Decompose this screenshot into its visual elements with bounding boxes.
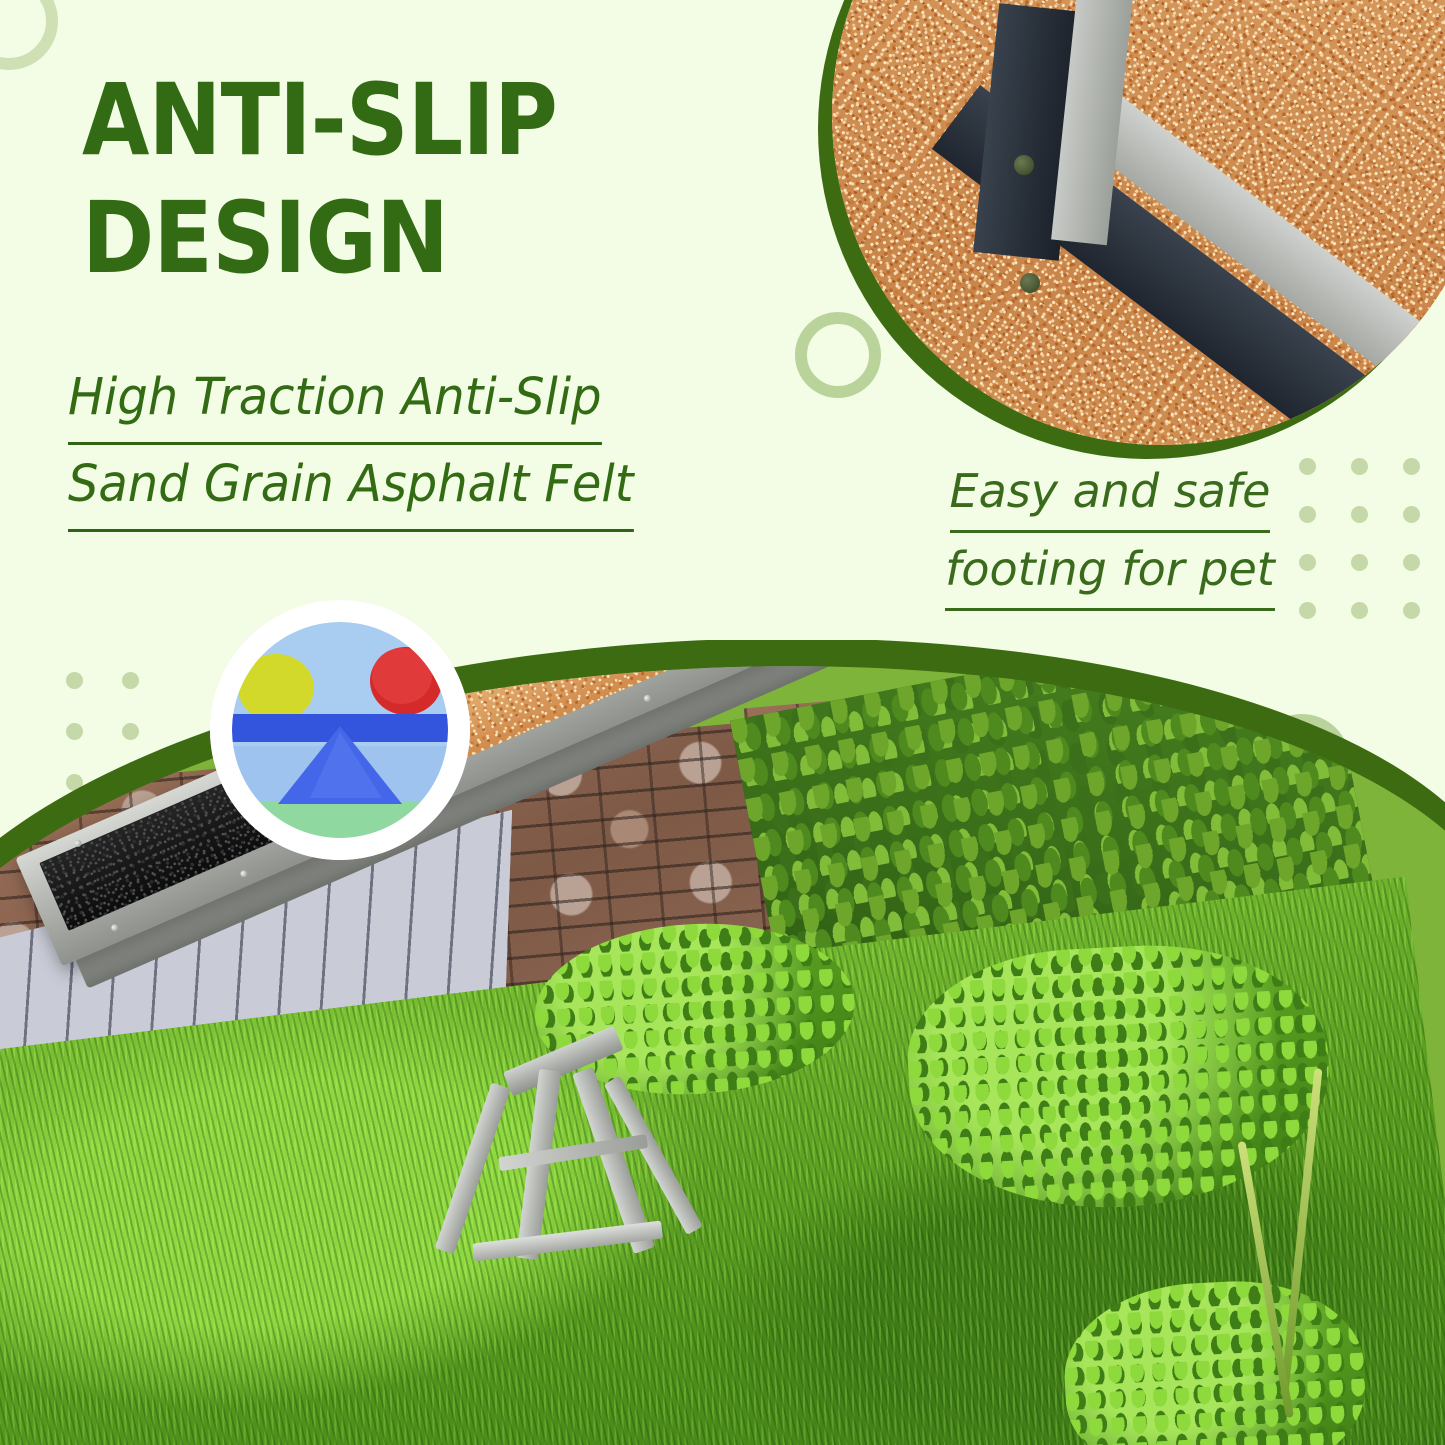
decor-dot — [1351, 554, 1368, 571]
callout-text: Easy and safe footing for pet — [915, 455, 1305, 611]
inset-photo-content — [832, 0, 1445, 445]
base-foot — [472, 1221, 663, 1262]
rivet-icon — [477, 663, 486, 672]
pet-seesaw-ramp — [0, 640, 1363, 1445]
decor-dot — [1403, 458, 1420, 475]
ramp-crossbar — [708, 640, 755, 644]
decor-dot — [1403, 506, 1420, 523]
decor-ring-corner-icon — [0, 0, 58, 70]
headline-line-1: ANTI-SLIP — [82, 62, 645, 180]
page-title: ANTI-SLIP DESIGN — [82, 62, 645, 298]
decor-dot — [1351, 602, 1368, 619]
screw-icon — [1020, 273, 1040, 293]
seesaw-balance-icon — [206, 596, 474, 864]
screw-icon — [1014, 155, 1034, 175]
marketing-banner: ANTI-SLIP DESIGN High Traction Anti-Slip… — [0, 0, 1445, 1445]
subtitle-line-1: High Traction Anti-Slip — [68, 358, 602, 445]
callout-line-1: Easy and safe — [950, 455, 1271, 533]
headline-line-2: DESIGN — [82, 180, 645, 298]
decor-dot — [1403, 602, 1420, 619]
anti-slip-surface-closeup-photo — [832, 0, 1445, 445]
subtitle: High Traction Anti-Slip Sand Grain Aspha… — [68, 358, 688, 532]
subtitle-line-2: Sand Grain Asphalt Felt — [68, 445, 634, 532]
decor-dot — [1351, 458, 1368, 475]
decor-dot-grid-right — [1299, 458, 1445, 650]
callout-line-2: footing for pet — [945, 533, 1275, 611]
decor-dot — [1403, 554, 1420, 571]
decor-dot — [1351, 506, 1368, 523]
